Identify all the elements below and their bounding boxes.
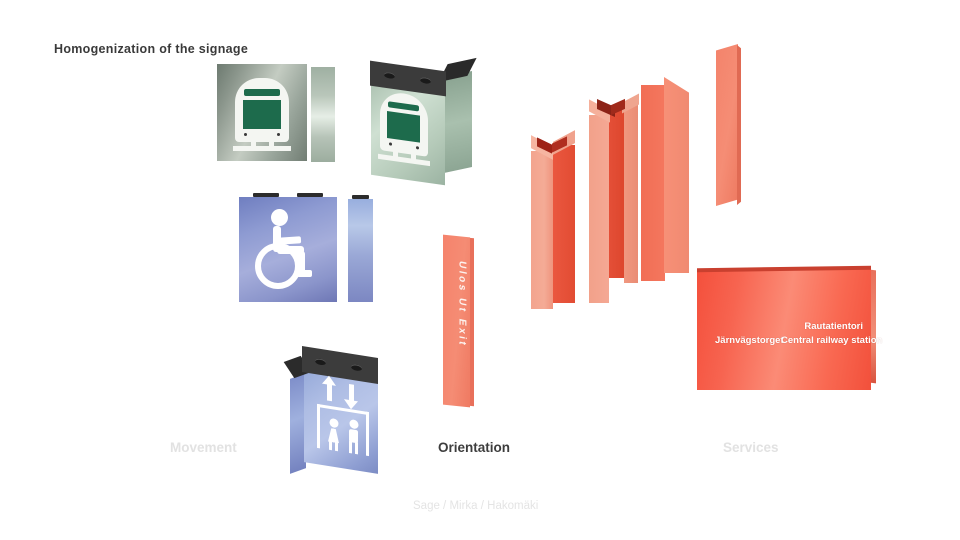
tram-body-shape xyxy=(235,78,289,142)
mounting-hole-icon xyxy=(420,77,431,85)
station-name-english: Central railway station xyxy=(781,335,882,346)
mounting-hole-icon xyxy=(351,364,362,372)
person-leg-left xyxy=(349,441,352,453)
square-tube-pylon xyxy=(531,137,579,309)
person-male-icon xyxy=(346,418,361,454)
mounting-tab xyxy=(352,195,369,199)
tram-base-shape xyxy=(233,146,291,151)
pylon-right-face xyxy=(664,77,689,273)
tram-lamp-right xyxy=(416,146,419,149)
elevator-car-frame xyxy=(317,404,369,456)
pylon-left-face xyxy=(531,151,553,309)
wheelchair-foot-shape xyxy=(297,270,312,277)
category-label-services: Services xyxy=(723,440,779,455)
pylon-back-face xyxy=(609,108,625,278)
exit-sign-text: Ulos Ut Exit xyxy=(457,238,468,370)
station-name-finnish: Rautatientori xyxy=(804,321,863,332)
pylon-right-face xyxy=(624,105,638,283)
tram-sign-3d-box xyxy=(363,56,483,181)
tram-window-shape xyxy=(387,111,420,143)
pylon-face xyxy=(716,44,738,206)
exit-pylon-sign: Ulos Ut Exit xyxy=(443,236,483,414)
pylon-left-face xyxy=(641,85,665,281)
tram-stripe-shape xyxy=(388,101,419,111)
tram-sign-narrow-panel xyxy=(311,67,335,162)
mounting-hole-icon xyxy=(384,72,395,80)
tram-lamp-left xyxy=(244,133,247,136)
accessibility-sign-panel xyxy=(239,197,337,302)
category-label-orientation: Orientation xyxy=(438,440,510,455)
wheelchair-head-shape xyxy=(271,209,288,226)
mounting-hole-icon xyxy=(315,358,326,366)
v-angle-pylon xyxy=(641,73,691,301)
tram-lamp-right xyxy=(277,133,280,136)
exit-pylon-front-face: Ulos Ut Exit xyxy=(443,235,470,408)
person-leg-right xyxy=(335,442,338,451)
open-u-pylon xyxy=(589,101,641,307)
wheelchair-icon xyxy=(253,209,325,291)
pylon-left-face xyxy=(589,115,609,303)
tram-body-shape xyxy=(380,90,428,157)
presentation-slide: Homogenization of the signage xyxy=(0,0,960,540)
person-head-shape xyxy=(329,418,338,428)
person-female-icon xyxy=(326,417,341,451)
tram-box-side-face xyxy=(444,71,472,173)
pylon-right-face xyxy=(553,145,575,303)
page-title: Homogenization of the signage xyxy=(54,42,248,56)
arrow-up-head-icon xyxy=(322,375,336,386)
elevator-icon xyxy=(314,378,372,461)
tram-lamp-left xyxy=(389,142,392,145)
tram-window-shape xyxy=(243,100,281,129)
person-leg-left xyxy=(329,441,332,450)
slide-credits: Sage / Mirka / Hakomäki xyxy=(413,500,538,512)
station-name-sign: Rautatientori Järnvägstorget Central rai… xyxy=(697,265,877,390)
station-sign-front-face: Rautatientori Järnvägstorget Central rai… xyxy=(697,269,871,390)
mounting-tab xyxy=(253,193,279,197)
category-label-movement: Movement xyxy=(170,440,237,455)
tram-stripe-shape xyxy=(244,89,280,96)
accessibility-narrow-panel xyxy=(348,199,373,302)
tram-front-icon xyxy=(380,90,434,170)
pylon-edge-face xyxy=(737,45,741,205)
flat-panel-pylon xyxy=(716,44,744,210)
wheelchair-arm-shape xyxy=(278,236,301,245)
tram-front-icon xyxy=(235,78,289,150)
station-name-swedish: Järnvägstorget xyxy=(715,335,784,346)
mounting-tab xyxy=(297,193,323,197)
person-leg-right xyxy=(355,442,358,454)
elevator-sign-3d-box xyxy=(288,343,400,471)
tram-sign-flat-panel xyxy=(217,64,307,161)
person-head-shape xyxy=(349,419,358,429)
